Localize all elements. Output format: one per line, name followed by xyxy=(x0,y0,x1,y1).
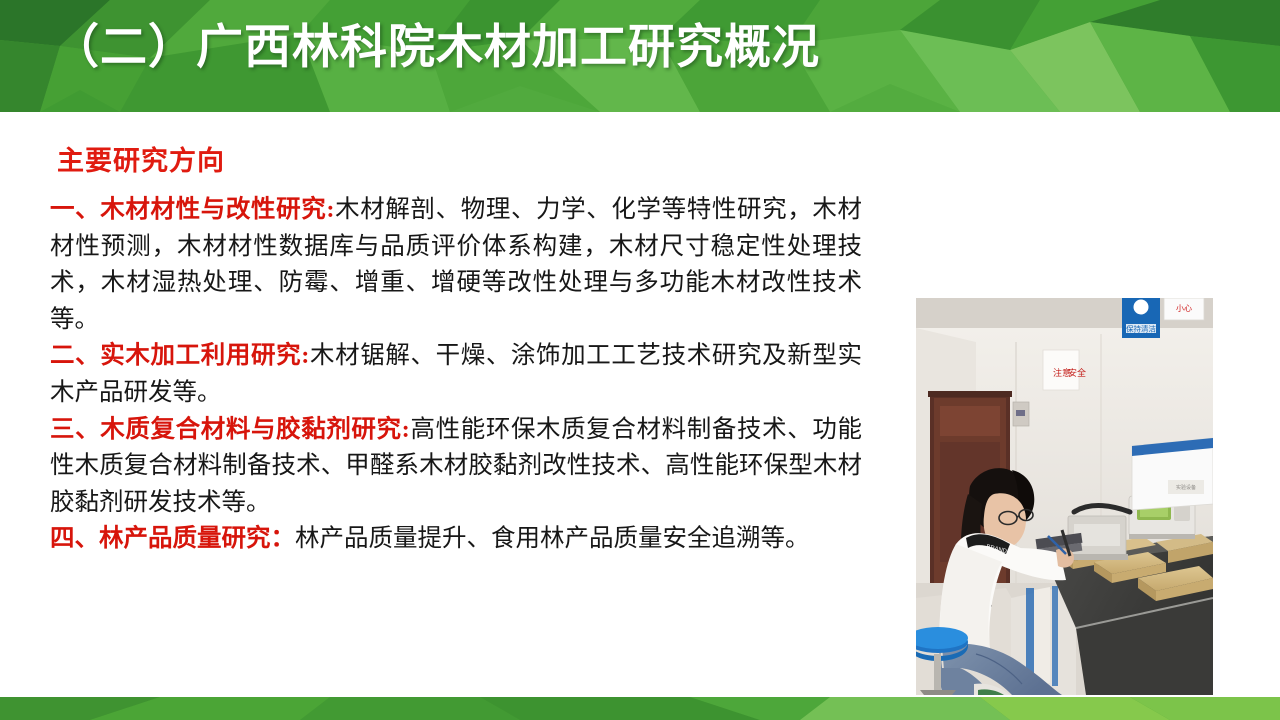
footer-banner xyxy=(0,697,1280,720)
svg-text:实验设备: 实验设备 xyxy=(1176,484,1196,491)
research-direction-2: 二、实木加工利用研究:木材锯解、干燥、涂饰加工工艺技术研究及新型实木产品研发等。 xyxy=(50,338,862,411)
research-direction-3: 三、木质复合材料与胶黏剂研究:高性能环保木质复合材料制备技术、功能性木质复合材料… xyxy=(50,412,862,522)
laboratory-photo: 保持清洁 小心 注意 安全 xyxy=(916,298,1213,695)
research-direction-2-lead: 二、实木加工利用研究: xyxy=(50,342,309,369)
section-heading: 主要研究方向 xyxy=(57,139,225,178)
research-direction-4-lead: 四、林产品质量研究： xyxy=(50,525,295,552)
header-banner: （二）广西林科院木材加工研究概况 xyxy=(0,0,1280,112)
slide: （二）广西林科院木材加工研究概况 主要研究方向 一、木材材性与改性研究:木材解剖… xyxy=(0,0,1280,720)
svg-text:小心: 小心 xyxy=(1176,304,1192,313)
svg-text:安全: 安全 xyxy=(1068,367,1086,378)
research-direction-4-body: 林产品质量提升、食用林产品质量安全追溯等。 xyxy=(295,525,810,552)
laboratory-photo-illustration: 保持清洁 小心 注意 安全 xyxy=(916,298,1213,695)
content-area: 主要研究方向 一、木材材性与改性研究:木材解剖、物理、力学、化学等特性研究，木材… xyxy=(0,112,1280,697)
footer-lowpoly-background xyxy=(0,697,1280,720)
research-direction-1-lead: 一、木材材性与改性研究: xyxy=(50,196,334,223)
research-directions-text: 一、木材材性与改性研究:木材解剖、物理、力学、化学等特性研究，木材材性预测，木材… xyxy=(50,192,862,558)
research-direction-1: 一、木材材性与改性研究:木材解剖、物理、力学、化学等特性研究，木材材性预测，木材… xyxy=(50,192,862,338)
page-title: （二）广西林科院木材加工研究概况 xyxy=(52,13,820,81)
research-direction-3-lead: 三、木质复合材料与胶黏剂研究: xyxy=(50,416,410,443)
svg-text:保持清洁: 保持清洁 xyxy=(1126,324,1156,334)
research-direction-4: 四、林产品质量研究：林产品质量提升、食用林产品质量安全追溯等。 xyxy=(50,521,862,558)
